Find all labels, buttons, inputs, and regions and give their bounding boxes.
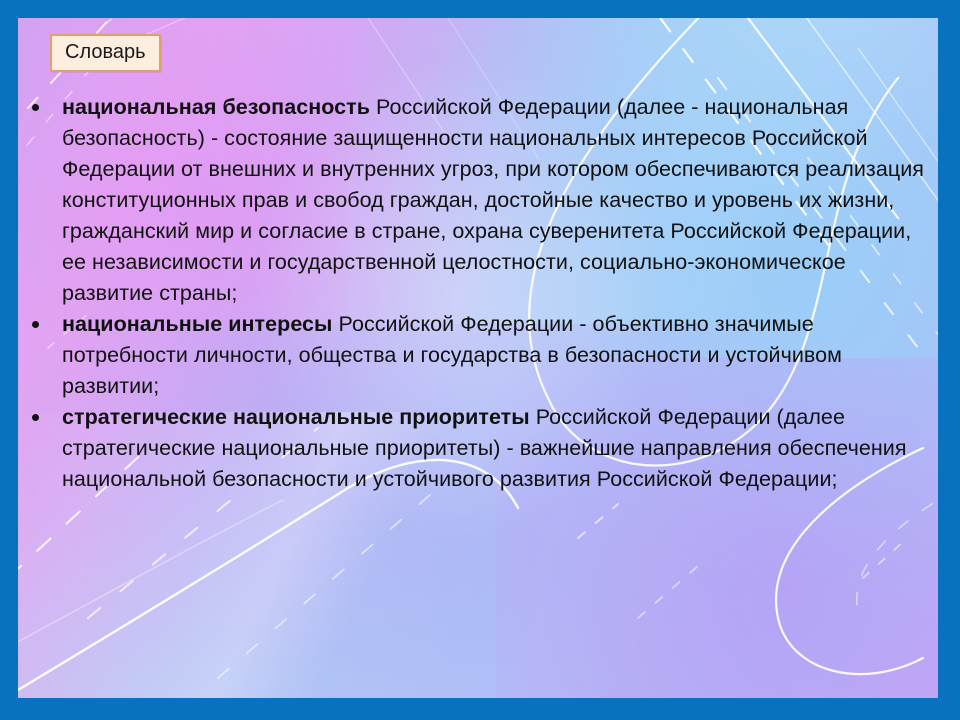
bullet-dot-icon xyxy=(32,321,39,328)
slide-canvas: Словарь национальная безопасность Россий… xyxy=(18,18,938,698)
definition-term: стратегические национальные приоритеты xyxy=(62,405,530,429)
list-item: стратегические национальные приоритеты Р… xyxy=(18,402,930,495)
definition-list: национальная безопасность Российской Фед… xyxy=(18,92,930,495)
slide: Словарь национальная безопасность Россий… xyxy=(0,0,960,720)
definition-term: национальная безопасность xyxy=(62,95,370,119)
definition-body: Российской Федерации (далее - национальн… xyxy=(62,95,924,305)
bullet-dot-icon xyxy=(32,414,39,421)
title-chip-label: Словарь xyxy=(65,41,146,63)
definition-term: национальные интересы xyxy=(62,312,332,336)
list-item: национальные интересы Российской Федерац… xyxy=(18,309,930,402)
bullet-dot-icon xyxy=(32,104,39,111)
list-item: национальная безопасность Российской Фед… xyxy=(18,92,930,309)
title-chip: Словарь xyxy=(50,34,161,72)
